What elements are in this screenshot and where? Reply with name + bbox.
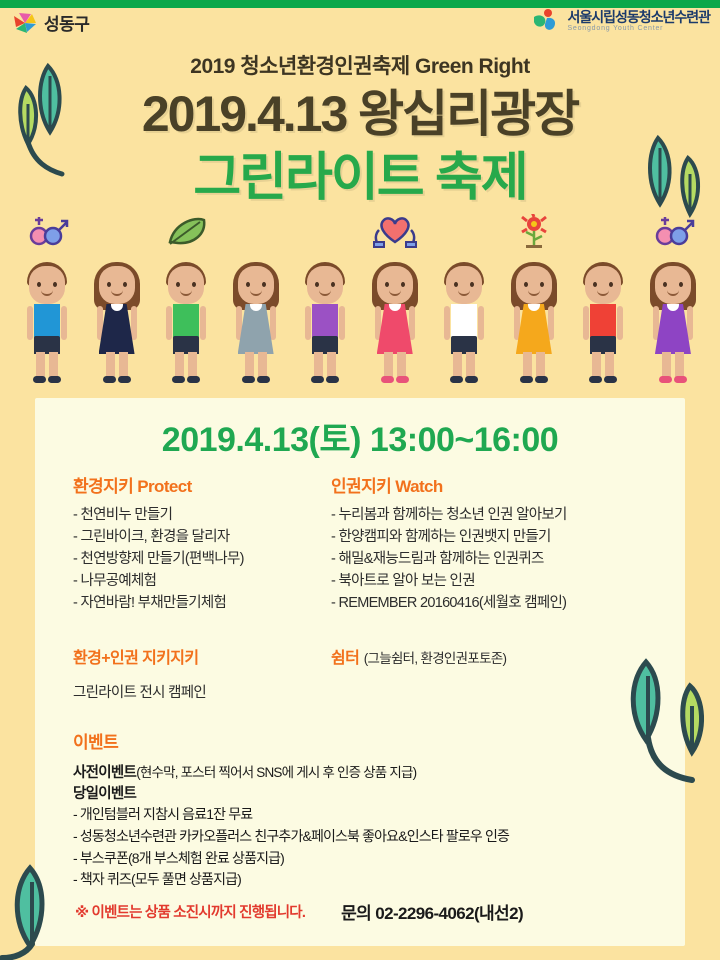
leg <box>536 352 545 378</box>
head <box>446 266 482 304</box>
list-item: - 성동청소년수련관 카카오플러스 친구추가&페이스북 좋아요&인스타 팔로우 … <box>73 826 673 848</box>
shoe <box>450 376 463 383</box>
leg <box>327 352 336 378</box>
leg <box>258 352 267 378</box>
head <box>377 266 413 304</box>
combo-heading: 환경+인권 지키지키 <box>73 644 331 668</box>
pre-event-label: 사전이벤트 <box>73 765 136 781</box>
logo-right-label: 서울시립성동청소년수련관 <box>567 10 710 25</box>
shoe <box>48 376 61 383</box>
shoe <box>118 376 131 383</box>
festival-title-line2: 그린라이트 축제 <box>0 135 720 210</box>
arm <box>305 306 311 340</box>
arm <box>166 306 172 340</box>
shoe <box>604 376 617 383</box>
shoe <box>33 376 46 383</box>
list-item: - 해밀&재능드림과 함께하는 인권퀴즈 <box>331 548 671 570</box>
list-item: - 천연방향제 만들기(편백나무) <box>73 548 333 570</box>
eye <box>540 282 544 287</box>
shoe <box>535 376 548 383</box>
shoe <box>589 376 602 383</box>
shoe <box>326 376 339 383</box>
leg <box>245 352 254 378</box>
leg <box>384 352 393 378</box>
list-item: - 북아트로 알아 보는 인권 <box>331 570 671 592</box>
leg <box>453 352 462 378</box>
list-item: - 그린바이크, 환경을 달리자 <box>73 526 333 548</box>
protect-item-list: - 천연비누 만들기 - 그린바이크, 환경을 달리자 - 천연방향제 만들기(… <box>73 504 333 614</box>
list-item: - 책자 퀴즈(모두 풀면 상품지급) <box>73 869 673 891</box>
arm <box>617 306 623 340</box>
arm <box>27 306 33 340</box>
leaf-icon <box>160 214 212 248</box>
shelter-heading: 쉼터 <box>331 650 359 667</box>
torso <box>173 304 199 338</box>
head <box>168 266 204 304</box>
leg <box>662 352 671 378</box>
eye <box>524 282 528 287</box>
leg <box>49 352 58 378</box>
shoe <box>187 376 200 383</box>
program-column-protect: 환경지키 Protect - 천연비누 만들기 - 그린바이크, 환경을 달리자… <box>73 472 333 614</box>
dress <box>655 304 691 354</box>
gender-symbols-icon <box>21 214 73 248</box>
combo-shelter-row: 환경+인권 지키지키 쉼터 (그늘쉼터, 환경인권포토존) 그린라이트 전시 캠… <box>73 644 673 702</box>
dress <box>99 304 135 354</box>
leaf-decoration-header-left <box>18 58 78 208</box>
dress <box>516 304 552 354</box>
person-figure <box>435 248 493 388</box>
leaf-decoration-card-right <box>612 648 720 788</box>
shoe <box>381 376 394 383</box>
leg <box>188 352 197 378</box>
eye <box>679 282 683 287</box>
gender-symbols-icon <box>647 214 699 248</box>
shoe <box>172 376 185 383</box>
head <box>655 266 691 304</box>
head <box>585 266 621 304</box>
dress <box>238 304 274 354</box>
people-illustration-row <box>0 248 720 388</box>
leg <box>592 352 601 378</box>
event-datetime: 2019.4.13(토) 13:00~16:00 <box>35 412 685 461</box>
person-figure <box>296 248 354 388</box>
leg <box>397 352 406 378</box>
list-item: - REMEMBER 20160416(세월호 캠페인) <box>331 592 671 614</box>
list-item: - 한양캠피와 함께하는 인권뱃지 만들기 <box>331 526 671 548</box>
dress <box>377 304 413 354</box>
eye <box>663 282 667 287</box>
arm <box>61 306 67 340</box>
torso <box>451 304 477 338</box>
list-item: - 누리봄과 함께하는 청소년 인권 알아보기 <box>331 504 671 526</box>
eye <box>53 282 57 287</box>
leg <box>523 352 532 378</box>
pre-event-note: (현수막, 포스터 찍어서 SNS에 게시 후 인증 상품 지급) <box>136 765 416 780</box>
head <box>99 266 135 304</box>
person-figure <box>18 248 76 388</box>
leg <box>605 352 614 378</box>
list-item: - 나무공예체험 <box>73 570 333 592</box>
list-item: - 개인텀블러 지참시 음료1잔 무료 <box>73 804 673 826</box>
eye <box>385 282 389 287</box>
shoe <box>103 376 116 383</box>
person-figure <box>505 248 563 388</box>
list-item: - 자연바람! 부채만들기체험 <box>73 592 333 614</box>
info-card: 2019.4.13(토) 13:00~16:00 환경지키 Protect - … <box>35 398 685 946</box>
shoe <box>257 376 270 383</box>
person-figure <box>157 248 215 388</box>
pre-event-row: 사전이벤트(현수막, 포스터 찍어서 SNS에 게시 후 인증 상품 지급) <box>73 761 673 782</box>
list-item: - 천연비누 만들기 <box>73 504 333 526</box>
shoe <box>465 376 478 383</box>
combo-section: 환경+인권 지키지키 <box>73 644 331 675</box>
program-column-watch: 인권지키 Watch - 누리봄과 함께하는 청소년 인권 알아보기 - 한양캠… <box>331 472 671 614</box>
eye <box>246 282 250 287</box>
day-event-label: 당일이벤트 <box>73 782 673 803</box>
event-heading: 이벤트 <box>73 728 673 753</box>
leg <box>675 352 684 378</box>
leg <box>36 352 45 378</box>
head <box>307 266 343 304</box>
logo-seongdong-gu: 성동구 <box>12 10 89 35</box>
shoe <box>659 376 672 383</box>
bird-logo-icon <box>531 8 561 34</box>
flower-icon <box>508 214 560 248</box>
combo-line: 그린라이트 전시 캠페인 <box>73 681 673 702</box>
torso <box>34 304 60 338</box>
logo-left-label: 성동구 <box>44 10 89 35</box>
top-green-strip <box>0 0 720 8</box>
eye <box>107 282 111 287</box>
shoe <box>520 376 533 383</box>
shelter-note: (그늘쉼터, 환경인권포토존) <box>364 651 507 666</box>
eye <box>401 282 405 287</box>
leg <box>175 352 184 378</box>
arm <box>200 306 206 340</box>
torso <box>312 304 338 338</box>
leaf-decoration-bottom-left <box>0 862 66 960</box>
footer-contact: 문의 02-2296-4062(내선2) <box>341 899 523 924</box>
eye <box>262 282 266 287</box>
pinwheel-logo-icon <box>12 11 38 35</box>
logo-seoul-seongdong-youth-center: 서울시립성동청소년수련관 Seongdong Youth Center <box>531 8 710 34</box>
watch-heading: 인권지키 Watch <box>331 472 671 497</box>
person-figure <box>227 248 285 388</box>
leg <box>119 352 128 378</box>
logo-right-sublabel: Seongdong Youth Center <box>567 25 710 32</box>
shoe <box>396 376 409 383</box>
leg <box>466 352 475 378</box>
watch-item-list: - 누리봄과 함께하는 청소년 인권 알아보기 - 한양캠피와 함께하는 인권뱃… <box>331 504 671 614</box>
person-figure <box>574 248 632 388</box>
arm <box>339 306 345 340</box>
shoe <box>311 376 324 383</box>
leg <box>106 352 115 378</box>
torso <box>590 304 616 338</box>
list-item: - 부스쿠폰(8개 부스체험 완료 상품지급) <box>73 848 673 870</box>
person-figure <box>366 248 424 388</box>
card-footer: ※ 이벤트는 상품 소진시까지 진행됩니다. 문의 02-2296-4062(내… <box>75 899 675 924</box>
day-event-list: - 개인텀블러 지참시 음료1잔 무료 - 성동청소년수련관 카카오플러스 친구… <box>73 804 673 891</box>
eye <box>37 282 41 287</box>
leg <box>314 352 323 378</box>
arm <box>444 306 450 340</box>
eye <box>123 282 127 287</box>
heart-in-hands-icon <box>369 214 421 248</box>
shoe <box>242 376 255 383</box>
head <box>29 266 65 304</box>
protect-heading: 환경지키 Protect <box>73 472 333 497</box>
person-figure <box>644 248 702 388</box>
footer-note: ※ 이벤트는 상품 소진시까지 진행됩니다. <box>75 901 305 922</box>
arm <box>583 306 589 340</box>
arm <box>478 306 484 340</box>
poster-root: 성동구 서울시립성동청소년수련관 Seongdong Youth Center … <box>0 0 720 960</box>
event-section: 이벤트 사전이벤트(현수막, 포스터 찍어서 SNS에 게시 후 인증 상품 지… <box>73 728 673 891</box>
shoe <box>674 376 687 383</box>
person-figure <box>88 248 146 388</box>
head <box>238 266 274 304</box>
head <box>516 266 552 304</box>
